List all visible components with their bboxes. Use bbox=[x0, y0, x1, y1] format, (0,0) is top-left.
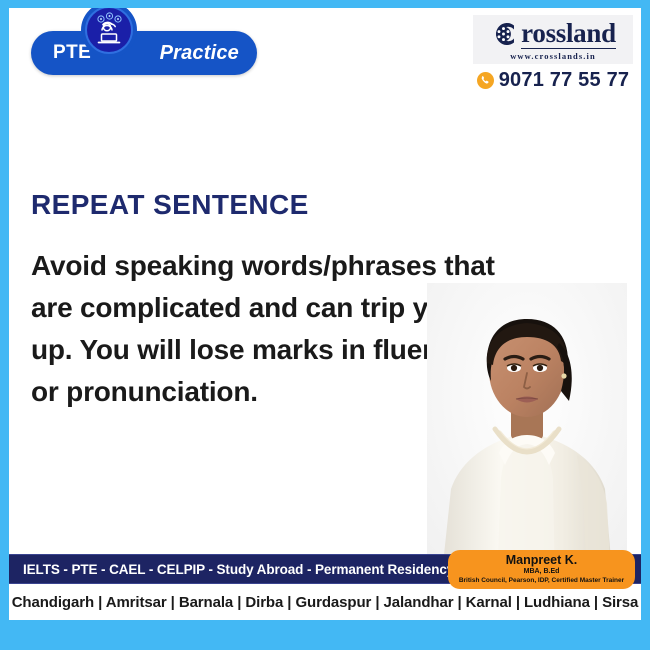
brand-block: rossland www.crosslands.in 9071 77 55 77 bbox=[473, 15, 633, 92]
page-title: REPEAT SENTENCE bbox=[31, 189, 309, 221]
poster-canvas: PTE Practice bbox=[9, 8, 641, 620]
poster-frame: PTE Practice bbox=[0, 0, 650, 650]
trainer-qualification: MBA, B.Ed bbox=[452, 567, 631, 576]
pte-practice-badge: PTE Practice bbox=[31, 31, 257, 75]
phone-block[interactable]: 9071 77 55 77 bbox=[473, 69, 633, 92]
services-text: IELTS - PTE - CAEL - CELPIP - Study Abro… bbox=[9, 562, 454, 577]
cities-bar: Chandigarh | Amritsar | Barnala | Dirba … bbox=[9, 584, 641, 620]
brand-website: www.crosslands.in bbox=[479, 51, 627, 61]
trainer-name: Manpreet K. bbox=[452, 553, 631, 567]
phone-icon bbox=[477, 72, 494, 89]
student-laptop-icon-inner bbox=[85, 8, 133, 54]
brand-name: rossland bbox=[521, 20, 616, 49]
crossland-logo: rossland www.crosslands.in bbox=[473, 15, 633, 64]
trainer-credentials: British Council, Pearson, IDP, Certified… bbox=[452, 577, 631, 585]
header: PTE Practice bbox=[9, 8, 641, 108]
crossland-circle-logo-icon bbox=[490, 19, 520, 49]
phone-number: 9071 77 55 77 bbox=[499, 69, 630, 92]
cities-list: Chandigarh | Amritsar | Barnala | Dirba … bbox=[12, 594, 639, 611]
trainer-badge: Manpreet K. MBA, B.Ed British Council, P… bbox=[448, 550, 635, 589]
pte-badge-suffix-label: Practice bbox=[160, 31, 239, 75]
